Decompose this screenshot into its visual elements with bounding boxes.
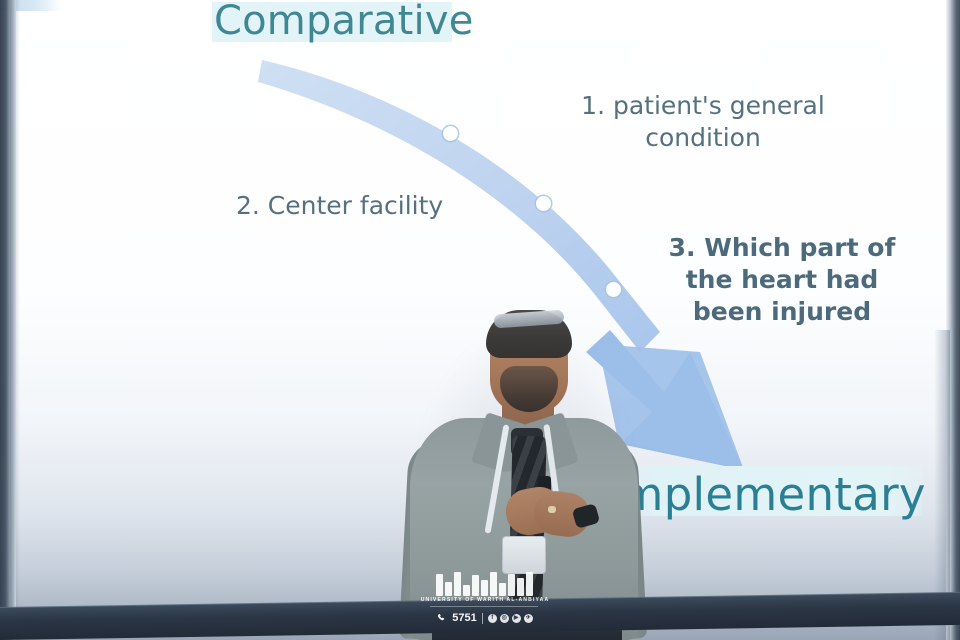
speaker-eye-right [536, 350, 550, 356]
phone-icon [437, 613, 447, 623]
speaker-ring [548, 506, 556, 513]
slide-item-2-line-1: 2. Center facility [236, 190, 476, 222]
university-name: UNIVERSITY OF WARITH AL-ANBIYAA [412, 597, 558, 603]
watermark-divider [430, 606, 538, 607]
slide-item-1-line-1: 1. patient's general [548, 90, 858, 122]
slide-item-2: 2. Center facility [236, 190, 476, 222]
slide-item-1: 1. patient's general condition [548, 90, 858, 154]
slide-item-1-line-2: condition [548, 122, 858, 154]
instagram-icon: ◎ [500, 614, 509, 623]
slide-item-3-line-3: been injured [648, 296, 916, 328]
slide-item-3-line-2: the heart had [648, 264, 916, 296]
watermark-separator [482, 613, 483, 624]
arrow-waypoint-dot [536, 196, 551, 211]
watermark-phone-number: 5751 [452, 612, 476, 624]
telegram-icon: ✈ [524, 614, 533, 623]
youtube-icon: ▶ [512, 614, 521, 623]
arrow-waypoint-dot [606, 282, 621, 297]
university-watermark: UNIVERSITY OF WARITH AL-ANBIYAA 5751 f ◎… [412, 566, 558, 634]
facebook-icon: f [488, 614, 497, 623]
presentation-screenshot: Comparative 1. patient's general conditi… [0, 0, 960, 640]
speaker-eye-left [504, 350, 518, 356]
watermark-contact-row: 5751 f ◎ ▶ ✈ [412, 610, 558, 626]
slide-item-3-line-1: 3. Which part of [648, 232, 916, 264]
arrow-waypoint-dot [443, 126, 458, 141]
slide-item-3: 3. Which part of the heart had been inju… [648, 232, 916, 328]
university-logo-icon [430, 566, 538, 596]
watermark-social-icons: f ◎ ▶ ✈ [488, 614, 533, 623]
